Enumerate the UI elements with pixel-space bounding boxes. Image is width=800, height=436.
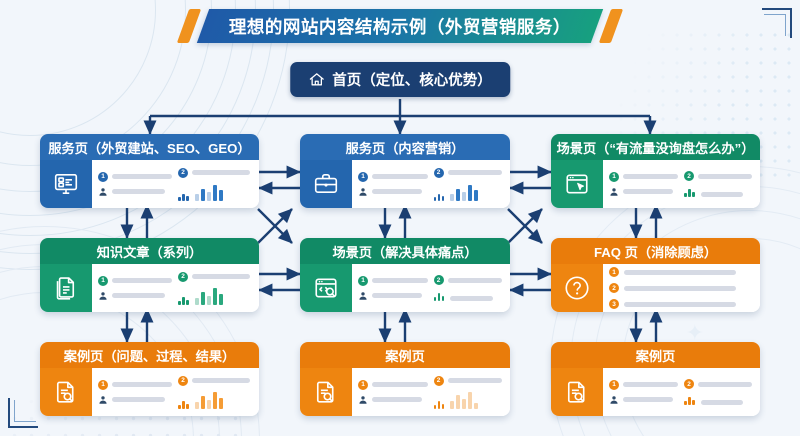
mini-chart bbox=[434, 398, 445, 409]
node-service-content-header: 服务页（内容营销） bbox=[300, 134, 510, 160]
document-stack-icon bbox=[53, 275, 79, 301]
node-service-content[interactable]: 服务页（内容营销） 1 2 bbox=[300, 134, 510, 208]
person-icon bbox=[358, 395, 368, 405]
badge: 1 bbox=[98, 276, 108, 286]
node-case-right-header: 案例页 bbox=[551, 342, 760, 368]
node-case-full-header: 案例页（问题、过程、结果） bbox=[40, 342, 259, 368]
bar-chart-icon bbox=[450, 391, 478, 409]
connector-cross-right-down bbox=[508, 209, 542, 243]
badge: 1 bbox=[98, 172, 108, 182]
placeholder-bar bbox=[372, 382, 428, 387]
document-search-icon bbox=[53, 379, 79, 405]
node-scene-painpoint[interactable]: 场景页（解决具体痛点） 1 bbox=[300, 238, 510, 312]
node-scene-traffic-iconbox bbox=[551, 160, 603, 208]
person-icon bbox=[609, 187, 619, 197]
placeholder-bar bbox=[450, 296, 493, 301]
code-search-icon bbox=[313, 275, 339, 301]
node-scene-painpoint-label: 场景页（解决具体痛点） bbox=[332, 242, 477, 261]
placeholder-bar bbox=[624, 286, 736, 291]
mini-chart bbox=[178, 398, 189, 409]
badge: 1 bbox=[609, 267, 619, 277]
bar-chart-icon bbox=[195, 287, 223, 305]
placeholder-bar bbox=[372, 189, 422, 194]
mini-chart bbox=[434, 190, 445, 201]
bar-chart-icon bbox=[195, 391, 223, 409]
placeholder-bar bbox=[372, 278, 428, 283]
question-circle-icon bbox=[563, 274, 591, 302]
badge: 1 bbox=[358, 172, 368, 182]
placeholder-bar bbox=[112, 397, 165, 402]
node-service-seo[interactable]: 服务页（外贸建站、SEO、GEO） 1 bbox=[40, 134, 259, 208]
badge: 1 bbox=[358, 380, 368, 390]
node-home-label: 首页（定位、核心优势） bbox=[332, 69, 492, 90]
badge: 2 bbox=[434, 376, 444, 386]
badge: 2 bbox=[609, 283, 619, 293]
node-knowledge-article-header: 知识文章（系列） bbox=[40, 238, 259, 264]
document-search-icon bbox=[564, 379, 590, 405]
mini-chart bbox=[178, 190, 189, 201]
badge: 1 bbox=[609, 172, 619, 182]
node-scene-painpoint-header: 场景页（解决具体痛点） bbox=[300, 238, 510, 264]
placeholder-bar bbox=[372, 397, 422, 402]
node-case-right-label: 案例页 bbox=[636, 346, 676, 365]
connector-cross-left-up bbox=[258, 209, 292, 243]
node-scene-painpoint-content: 1 2 bbox=[352, 264, 510, 312]
placeholder-bar bbox=[112, 278, 172, 283]
placeholder-bar bbox=[623, 382, 678, 387]
node-service-seo-label: 服务页（外贸建站、SEO、GEO） bbox=[48, 138, 250, 157]
badge: 1 bbox=[609, 380, 619, 390]
node-faq-header: FAQ 页（消除顾虑） bbox=[551, 238, 760, 264]
placeholder-bar bbox=[623, 189, 673, 194]
connector-cross-left-down bbox=[258, 209, 292, 243]
placeholder-bar bbox=[448, 170, 502, 175]
node-service-seo-content: 1 2 bbox=[92, 160, 259, 208]
node-case-full[interactable]: 案例页（问题、过程、结果） 1 2 bbox=[40, 342, 259, 416]
placeholder-bar bbox=[624, 270, 736, 275]
node-case-right-iconbox bbox=[551, 368, 603, 416]
person-icon bbox=[358, 291, 368, 301]
badge: 2 bbox=[178, 272, 188, 282]
monitor-sitemap-icon bbox=[53, 171, 79, 197]
placeholder-bar bbox=[624, 302, 736, 307]
node-case-full-iconbox bbox=[40, 368, 92, 416]
placeholder-bar bbox=[623, 397, 673, 402]
title-banner: 理想的网站内容结构示例（外贸营销服务） bbox=[0, 8, 800, 44]
badge: 2 bbox=[684, 379, 694, 389]
node-faq[interactable]: FAQ 页（消除顾虑） 1 2 3 bbox=[551, 238, 760, 312]
node-faq-iconbox bbox=[551, 264, 603, 312]
node-service-content-iconbox bbox=[300, 160, 352, 208]
person-icon bbox=[98, 187, 108, 197]
node-case-right-content: 1 2 bbox=[603, 368, 760, 416]
node-case-center[interactable]: 案例页 1 2 bbox=[300, 342, 510, 416]
placeholder-bar bbox=[701, 400, 744, 405]
corner-bracket-bottom-left bbox=[8, 398, 38, 428]
person-icon bbox=[98, 395, 108, 405]
badge: 2 bbox=[178, 376, 188, 386]
mini-chart bbox=[684, 394, 695, 405]
node-case-right[interactable]: 案例页 1 2 bbox=[551, 342, 760, 416]
bar-chart-icon bbox=[195, 183, 223, 201]
node-scene-traffic-label: 场景页（“有流量没询盘怎么办”） bbox=[557, 138, 755, 157]
node-scene-painpoint-iconbox bbox=[300, 264, 352, 312]
node-scene-traffic-header: 场景页（“有流量没询盘怎么办”） bbox=[551, 134, 760, 160]
placeholder-bar bbox=[192, 378, 250, 383]
person-icon bbox=[609, 395, 619, 405]
placeholder-bar bbox=[372, 174, 428, 179]
home-icon bbox=[308, 71, 325, 88]
mini-chart bbox=[178, 294, 189, 305]
placeholder-bar bbox=[112, 189, 165, 194]
node-scene-traffic[interactable]: 场景页（“有流量没询盘怎么办”） 1 bbox=[551, 134, 760, 208]
mini-chart bbox=[684, 186, 695, 197]
placeholder-bar bbox=[112, 174, 172, 179]
node-service-seo-iconbox bbox=[40, 160, 92, 208]
placeholder-bar bbox=[701, 192, 744, 197]
badge: 3 bbox=[609, 299, 619, 309]
placeholder-bar bbox=[698, 174, 752, 179]
title-bar: 理想的网站内容结构示例（外贸营销服务） bbox=[197, 9, 603, 43]
placeholder-bar bbox=[448, 278, 502, 283]
placeholder-bar bbox=[192, 274, 250, 279]
slash-accent-right bbox=[599, 9, 623, 43]
badge: 2 bbox=[178, 168, 188, 178]
node-case-center-label: 案例页 bbox=[385, 346, 425, 365]
placeholder-bar bbox=[698, 382, 752, 387]
corner-bracket-bottom-left-inner bbox=[14, 400, 36, 422]
document-search-icon bbox=[313, 379, 339, 405]
briefcase-icon bbox=[313, 171, 339, 197]
placeholder-bar bbox=[112, 382, 172, 387]
node-service-content-label: 服务页（内容营销） bbox=[346, 138, 465, 157]
node-faq-label: FAQ 页（消除顾虑） bbox=[594, 242, 717, 261]
placeholder-bar bbox=[623, 174, 678, 179]
node-service-seo-header: 服务页（外贸建站、SEO、GEO） bbox=[40, 134, 259, 160]
node-case-center-header: 案例页 bbox=[300, 342, 510, 368]
badge: 2 bbox=[684, 171, 694, 181]
browser-cursor-icon bbox=[564, 171, 590, 197]
badge: 1 bbox=[358, 276, 368, 286]
bar-chart-icon bbox=[450, 183, 478, 201]
node-case-full-content: 1 2 bbox=[92, 368, 259, 416]
sparkle-icon: ✦ bbox=[686, 322, 704, 344]
node-home[interactable]: 首页（定位、核心优势） bbox=[290, 62, 510, 97]
mini-chart bbox=[434, 290, 445, 301]
node-knowledge-article-label: 知识文章（系列） bbox=[97, 242, 203, 261]
placeholder-bar bbox=[448, 378, 502, 383]
page-title: 理想的网站内容结构示例（外贸营销服务） bbox=[229, 14, 571, 39]
badge: 2 bbox=[434, 275, 444, 285]
person-icon bbox=[358, 187, 368, 197]
node-scene-traffic-content: 1 2 bbox=[603, 160, 760, 208]
node-case-full-label: 案例页（问题、过程、结果） bbox=[64, 346, 235, 365]
node-knowledge-article[interactable]: 知识文章（系列） 1 2 bbox=[40, 238, 259, 312]
node-knowledge-article-content: 1 2 bbox=[92, 264, 259, 312]
connector-cross-right-up bbox=[508, 209, 542, 243]
node-case-center-iconbox bbox=[300, 368, 352, 416]
node-case-center-content: 1 2 bbox=[352, 368, 510, 416]
node-faq-content: 1 2 3 bbox=[603, 264, 760, 312]
person-icon bbox=[98, 291, 108, 301]
node-service-content-content: 1 2 bbox=[352, 160, 510, 208]
badge: 1 bbox=[98, 380, 108, 390]
placeholder-bar bbox=[372, 293, 422, 298]
node-knowledge-article-iconbox bbox=[40, 264, 92, 312]
placeholder-bar bbox=[112, 293, 165, 298]
badge: 2 bbox=[434, 168, 444, 178]
placeholder-bar bbox=[192, 170, 250, 175]
